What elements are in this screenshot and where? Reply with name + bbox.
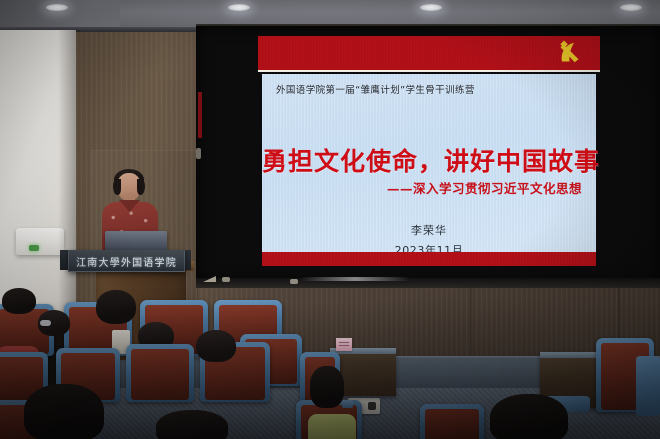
foreground-head-2 (156, 410, 228, 439)
audience-head-3 (96, 290, 136, 324)
foreground-head-3 (490, 394, 568, 439)
slide-body: 外国语学院第一届“雏鹰计划”学生骨干训练营 勇担文化使命，讲好中国故事 ——深入… (262, 74, 596, 252)
handheld-phone (342, 400, 353, 408)
ceiling-downlight-2 (228, 4, 250, 11)
slide-top-band (258, 36, 600, 72)
audience-torso-yellow (308, 414, 356, 439)
outlet-socket (368, 402, 376, 410)
slide-title-text: 勇担文化使命，讲好中国故事 (262, 142, 596, 178)
seat-right-2-frame (636, 356, 660, 416)
screen-housing-glint (300, 277, 410, 281)
slide-bottom-band (262, 252, 596, 266)
hair-clip (40, 320, 51, 326)
status-led-icon (29, 245, 39, 251)
audience-head-5 (196, 330, 236, 362)
ceiling-downlight-4 (620, 4, 642, 11)
presentation-slide: 外国语学院第一届“雏鹰计划”学生骨干训练营 勇担文化使命，讲好中国故事 ——深入… (258, 36, 600, 272)
speaker-hair-left (113, 179, 121, 195)
seat-mid-3[interactable] (126, 344, 194, 402)
name-card-line-2 (339, 345, 349, 346)
slide-author-text: 李荣华 (262, 222, 596, 238)
slide-header-text: 外国语学院第一届“雏鹰计划”学生骨干训练营 (276, 82, 475, 96)
seat-cushion (131, 349, 189, 400)
podium-nameplate-text: 江南大學外国语学院 (76, 254, 177, 269)
podium-nameplate: 江南大學外国语学院 (68, 250, 185, 272)
audience-head-1 (2, 288, 36, 314)
screen-housing-nub-2 (290, 279, 298, 284)
audience-head-6 (310, 366, 344, 408)
ceiling-downlight-3 (420, 4, 442, 11)
name-card (336, 338, 352, 351)
seat-front-3[interactable] (420, 404, 484, 439)
ceiling-downlight-1 (46, 4, 68, 11)
cpc-hammer-sickle-emblem-icon (556, 39, 586, 66)
screen-mount-knob-icon (196, 148, 201, 159)
screen-housing-bottom (196, 278, 660, 288)
lecture-hall-photo: 外国语学院第一届“雏鹰计划”学生骨干训练营 勇担文化使命，讲好中国故事 ——深入… (0, 0, 660, 439)
screen-side-strip (198, 92, 202, 138)
name-card-line-1 (339, 342, 349, 343)
slide-subtitle-text: ——深入学习贯彻习近平文化思想 (387, 178, 582, 197)
screen-housing-nub-1 (222, 277, 230, 282)
seat-cushion (425, 409, 479, 439)
wall-mounted-device (16, 228, 64, 255)
foreground-head-1 (24, 384, 104, 439)
